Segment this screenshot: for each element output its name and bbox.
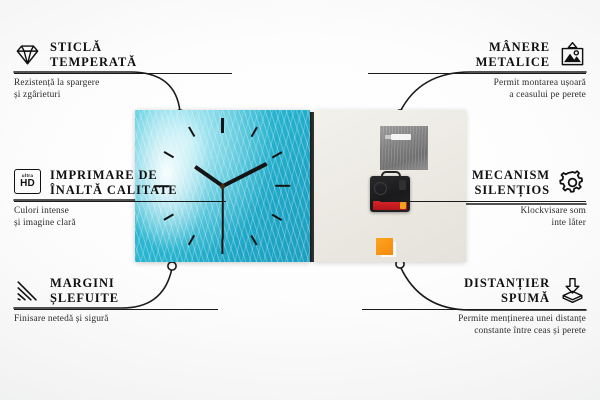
callout-rule [14, 73, 232, 75]
hour-marker [250, 127, 257, 137]
hour-marker [271, 151, 281, 158]
gear-icon [559, 169, 586, 196]
hour-marker [221, 118, 223, 133]
callout-title: MÂNERE METALICE [476, 40, 550, 70]
callout-rule [14, 309, 218, 311]
callout-manere-metalice: MÂNERE METALICE Permit montarea ușoară a… [354, 40, 586, 101]
hour-marker [221, 239, 223, 254]
callout-title: MARGINI ȘLEFUITE [50, 276, 119, 306]
hour-marker [163, 151, 173, 158]
hour-marker [271, 214, 281, 221]
infographic-canvas: STICLĂ TEMPERATĂ Rezistență la spargere … [0, 0, 600, 400]
foam-spacer-pad [376, 238, 393, 255]
callout-title: MECANISM SILENȚIOS [472, 168, 550, 198]
callout-title: DISTANȚIER SPUMĂ [464, 276, 550, 306]
callout-rule [14, 201, 226, 203]
callout-description: Rezistență la spargere și zgârieturi [14, 77, 246, 101]
callout-title: STICLĂ TEMPERATĂ [50, 40, 137, 70]
callout-description: Permit montarea ușoară a ceasului pe per… [354, 77, 586, 101]
hour-marker [275, 185, 290, 187]
beveled-edge-icon [14, 277, 41, 304]
callout-margini-slefuite: MARGINI ȘLEFUITE Finisare netedă și sigu… [14, 276, 246, 325]
callout-description: Permite menținerea unei distanțe constan… [354, 313, 586, 337]
callout-sticla-temperata: STICLĂ TEMPERATĂ Rezistență la spargere … [14, 40, 246, 101]
hour-marker [188, 127, 195, 137]
callout-description: Klockvisare som inte låter [354, 205, 586, 229]
callout-imprimare-calitate: ultra HD IMPRIMARE DE ÎNALTĂ CALITATE Cu… [14, 168, 246, 229]
callout-title: IMPRIMARE DE ÎNALTĂ CALITATE [50, 168, 178, 198]
callout-description: Culori intense și imagine clară [14, 205, 246, 229]
ultra-hd-icon: ultra HD [14, 169, 41, 196]
hanger-slot [391, 134, 411, 140]
metal-hanger-plate [380, 126, 428, 170]
callout-rule [362, 309, 586, 311]
hour-marker [250, 235, 257, 245]
callout-distantier-spuma: DISTANȚIER SPUMĂ Permite menținerea unei… [354, 276, 586, 337]
picture-frame-hook-icon [559, 41, 586, 68]
connector-dot-margini [168, 262, 176, 270]
callout-mecanism-silentios: MECANISM SILENȚIOS Klockvisare som inte … [354, 168, 586, 229]
callout-rule [380, 201, 586, 203]
diamond-icon [14, 41, 41, 68]
callout-rule [368, 73, 586, 75]
callout-description: Finisare netedă și sigură [14, 313, 246, 325]
hour-marker [188, 235, 195, 245]
press-down-arrow-icon [559, 277, 586, 304]
